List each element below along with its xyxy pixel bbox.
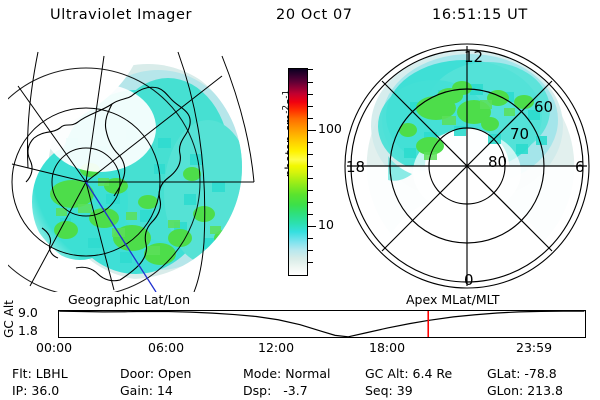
orbit-xtick: 06:00 <box>148 340 184 355</box>
colorbar-tick <box>308 190 313 191</box>
status-door-value: Open <box>158 366 191 381</box>
orbit-axis-label: GC Alt <box>2 292 16 346</box>
colorbar-tick-major <box>308 226 316 227</box>
status-glat-value: -78.8 <box>524 366 556 381</box>
colorbar-tick <box>308 154 313 155</box>
page-title: Ultraviolet Imager <box>50 7 192 23</box>
status-seq-value: 39 <box>397 383 413 398</box>
status-door: Door: Open <box>120 366 191 381</box>
status-door-label: Door: <box>120 366 154 381</box>
colorbar-tick <box>308 82 313 83</box>
polar-plot-svg: 12 18 6 0 60 70 80 <box>338 40 596 292</box>
status-seq: Seq: 39 <box>365 383 413 398</box>
mlt-label-12: 12 <box>464 48 483 66</box>
header-time: 16:51:15 UT <box>432 7 528 23</box>
colorbar-label-10: 10 <box>318 219 334 232</box>
colorbar-tick <box>308 69 313 70</box>
status-flt-value: LBHL <box>36 366 68 381</box>
mlt-label-0: 0 <box>464 271 474 289</box>
colorbar-tick <box>308 202 313 203</box>
colorbar-tick-major <box>308 130 316 131</box>
orbit-ytick-high: 9.0 <box>18 305 38 320</box>
mlat-label-80: 80 <box>488 153 507 171</box>
orbit-plot-area[interactable] <box>58 310 586 338</box>
colorbar-tick <box>308 250 313 251</box>
orbit-plot-frame <box>59 311 586 338</box>
mlt-label-18: 18 <box>346 158 365 176</box>
colorbar-tick <box>308 214 313 215</box>
colorbar-tick <box>308 106 313 107</box>
uvi-display: Ultraviolet Imager 20 Oct 07 16:51:15 UT <box>0 0 600 400</box>
status-mode: Mode: Normal <box>243 366 331 381</box>
status-dsp: Dsp: -3.7 <box>243 383 308 398</box>
status-dsp-label: Dsp: <box>243 383 271 398</box>
status-flt-label: Flt: <box>12 366 32 381</box>
auroral-emission-field <box>18 55 252 280</box>
status-footer: Flt: LBHL Door: Open Mode: Normal GC Alt… <box>0 366 600 400</box>
status-glat: GLat: -78.8 <box>487 366 557 381</box>
status-ip-label: IP: <box>12 383 27 398</box>
status-gain-value: 14 <box>157 383 173 398</box>
status-glon-label: GLon: <box>487 383 523 398</box>
geo-panel-caption: Geographic Lat/Lon <box>68 292 190 307</box>
geographic-plot-svg <box>8 42 262 292</box>
colorbar-tick <box>308 94 313 95</box>
apex-polar-panel[interactable]: 12 18 6 0 60 70 80 <box>338 40 596 292</box>
status-gain: Gain: 14 <box>120 383 173 398</box>
mlt-spokes <box>347 46 587 286</box>
geographic-image-panel[interactable] <box>8 42 262 292</box>
orbit-xtick: 12:00 <box>258 340 294 355</box>
status-gain-label: Gain: <box>120 383 153 398</box>
status-flt: Flt: LBHL <box>12 366 68 381</box>
orbit-altitude-strip[interactable]: Geographic Lat/Lon Apex MLat/MLT GC Alt … <box>0 292 600 354</box>
mlat-label-70: 70 <box>510 125 529 143</box>
status-gcalt-label: GC Alt: <box>365 366 409 381</box>
status-glon: GLon: 213.8 <box>487 383 563 398</box>
colorbar-tick <box>308 238 313 239</box>
orbit-plot-svg <box>58 310 586 338</box>
status-mode-label: Mode: <box>243 366 281 381</box>
colorbar-tick <box>308 118 313 119</box>
colorbar-group: photon cm-2s-1 100 10 <box>266 60 336 290</box>
header-bar: Ultraviolet Imager 20 Oct 07 16:51:15 UT <box>0 4 600 28</box>
orbit-ytick-low: 1.8 <box>18 323 38 338</box>
header-date: 20 Oct 07 <box>276 7 353 23</box>
mlat-label-60: 60 <box>534 98 553 116</box>
status-ip-value: 36.0 <box>31 383 59 398</box>
status-mode-value: Normal <box>285 366 330 381</box>
status-ip: IP: 36.0 <box>12 383 59 398</box>
colorbar-tick <box>308 142 313 143</box>
status-glat-label: GLat: <box>487 366 520 381</box>
orbit-xtick: 23:59 <box>516 340 552 355</box>
colorbar-tick <box>308 166 313 167</box>
status-gcalt: GC Alt: 6.4 Re <box>365 366 452 381</box>
mlt-label-6: 6 <box>575 158 585 176</box>
colorbar-tick <box>308 178 313 179</box>
status-dsp-value: -3.7 <box>283 383 307 398</box>
orbit-xtick: 00:00 <box>36 340 72 355</box>
polar-panel-caption: Apex MLat/MLT <box>406 292 500 307</box>
orbit-xtick: 18:00 <box>369 340 405 355</box>
status-glon-value: 213.8 <box>527 383 563 398</box>
colorbar-tick <box>308 262 313 263</box>
colorbar-gradient <box>288 68 308 276</box>
status-gcalt-value: 6.4 Re <box>413 366 453 381</box>
status-seq-label: Seq: <box>365 383 393 398</box>
